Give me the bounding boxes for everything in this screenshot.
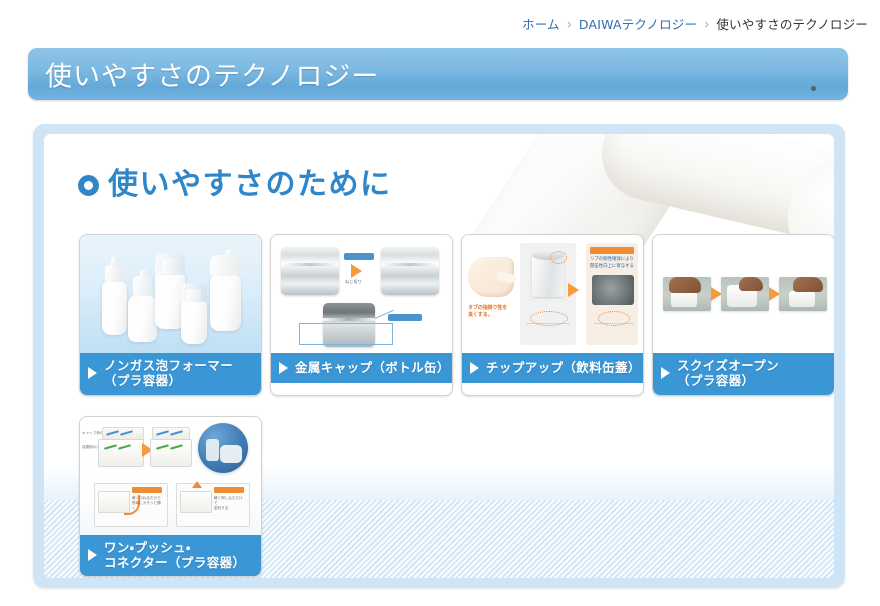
card-thumbnail-non-gas-foamer — [80, 235, 261, 353]
card-thumbnail-one-push-connector: キャップ側の穴 容器側の穴 軽くひねるだけで簡単にカチッと開く — [80, 417, 261, 535]
card-label-chip-up[interactable]: チップアップ（飲料缶蓋） — [462, 353, 643, 383]
breadcrumb: ホーム › DAIWAテクノロジー › 使いやすさのテクノロジー — [0, 14, 868, 33]
card-one-push-connector[interactable]: キャップ側の穴 容器側の穴 軽くひねるだけで簡単にカチッと開く — [79, 416, 262, 578]
triangle-right-icon — [88, 367, 97, 379]
triangle-right-icon — [279, 362, 288, 374]
card-thumbnail-squeeze-open — [653, 235, 834, 353]
breadcrumb-item-daiwa-technology[interactable]: DAIWAテクノロジー — [579, 14, 697, 33]
page-root: ホーム › DAIWAテクノロジー › 使いやすさのテクノロジー 使いやすさのテ… — [0, 0, 880, 606]
title-bar-dot-icon — [811, 86, 816, 91]
card-label-text: スクイズオープン （プラ容器） — [677, 358, 779, 389]
breadcrumb-separator-icon: › — [704, 15, 709, 33]
section-heading-label: 使いやすさのために — [108, 170, 392, 200]
card-label-text: ワン・プッシュ・ コネクター（プラ容器） — [104, 540, 245, 571]
triangle-right-icon — [88, 549, 97, 561]
technology-card-grid: ノンガス泡フォーマー （プラ容器） ねじ切り — [79, 234, 834, 578]
triangle-right-icon — [470, 362, 479, 374]
card-label-text: 金属キャップ（ボトル缶） — [295, 360, 446, 375]
breadcrumb-item-home[interactable]: ホーム — [522, 14, 560, 33]
ring-bullet-icon — [78, 175, 99, 196]
triangle-right-icon — [661, 367, 670, 379]
card-label-squeeze-open[interactable]: スクイズオープン （プラ容器） — [653, 353, 834, 395]
card-label-non-gas-foamer[interactable]: ノンガス泡フォーマー （プラ容器） — [80, 353, 261, 395]
card-metal-cap[interactable]: ねじ切り 金属キャップ（ボトル缶） — [270, 234, 453, 396]
breadcrumb-separator-icon: › — [567, 15, 572, 33]
card-squeeze-open[interactable]: スクイズオープン （プラ容器） — [652, 234, 834, 396]
content-panel-inner: 使いやすさのために ノンガス泡フォーマー （プラ容器） — [44, 134, 834, 578]
section-heading: 使いやすさのために — [78, 170, 392, 200]
page-title-bar: 使いやすさのテクノロジー — [28, 48, 848, 100]
card-thumbnail-chip-up: タブの指掛り性を良くする。 リブの剛性確保により開缶性向上に寄与する — [462, 235, 643, 353]
card-label-text: ノンガス泡フォーマー （プラ容器） — [104, 358, 233, 389]
card-label-one-push-connector[interactable]: ワン・プッシュ・ コネクター（プラ容器） — [80, 535, 261, 577]
card-non-gas-foamer[interactable]: ノンガス泡フォーマー （プラ容器） — [79, 234, 262, 396]
card-thumbnail-metal-cap: ねじ切り — [271, 235, 452, 353]
card-chip-up[interactable]: タブの指掛り性を良くする。 リブの剛性確保により開缶性向上に寄与する チップアッ… — [461, 234, 644, 396]
card-label-text: チップアップ（飲料缶蓋） — [486, 360, 637, 375]
breadcrumb-item-current: 使いやすさのテクノロジー — [716, 14, 868, 33]
card-label-metal-cap[interactable]: 金属キャップ（ボトル缶） — [271, 353, 452, 383]
content-panel-outer: 使いやすさのために ノンガス泡フォーマー （プラ容器） — [33, 124, 845, 588]
page-title: 使いやすさのテクノロジー — [45, 55, 379, 94]
